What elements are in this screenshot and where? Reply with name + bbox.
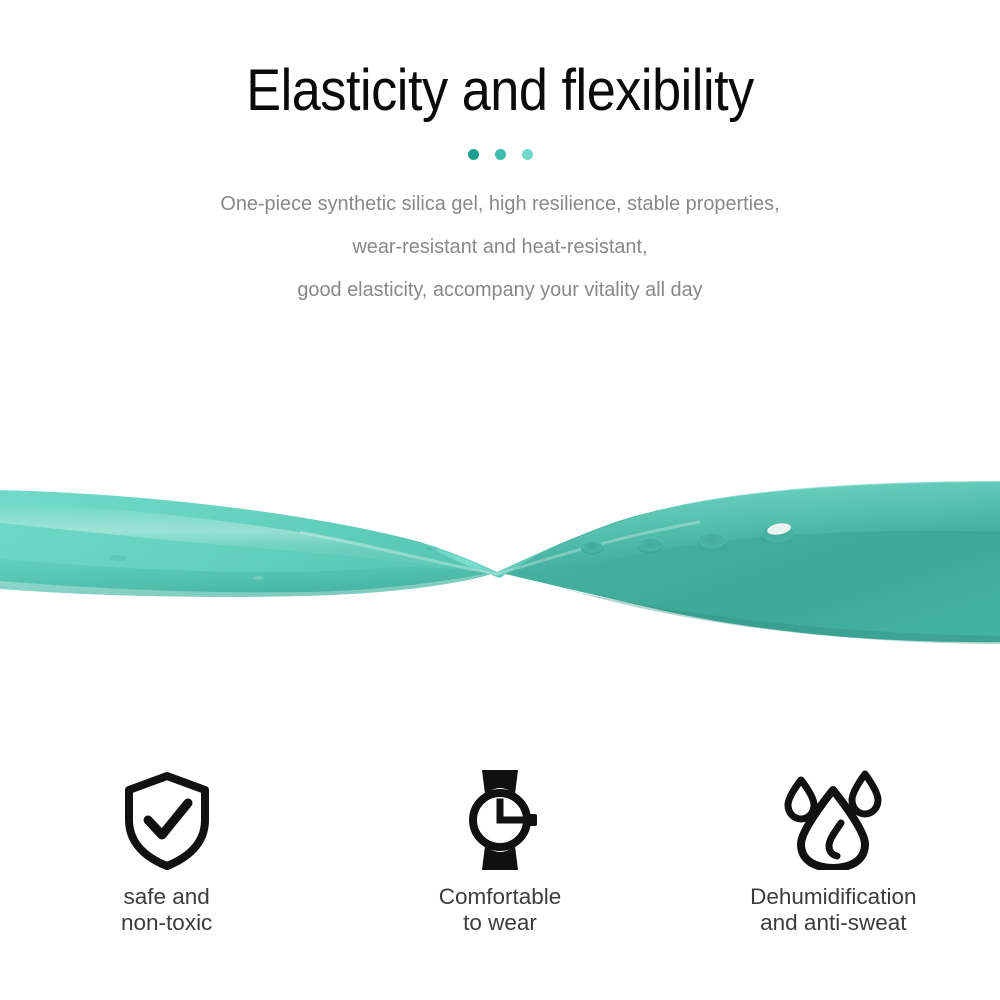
feature-caption: Comfortable to wear <box>439 884 562 936</box>
feature-safe-non-toxic: safe and non-toxic <box>0 768 333 936</box>
header-block: Elasticity and flexibility One-piece syn… <box>0 0 1000 311</box>
feature-caption: Dehumidification and anti-sweat <box>750 884 916 936</box>
twisted-band-illustration <box>0 382 1000 682</box>
subtitle-line-2: wear-resistant and heat-resistant, <box>15 225 985 268</box>
feature-caption-line-2: and anti-sweat <box>750 910 916 936</box>
subtitle-block: One-piece synthetic silica gel, high res… <box>15 182 985 311</box>
feature-caption-line-2: non-toxic <box>121 910 212 936</box>
dot-dark-icon <box>468 149 479 160</box>
feature-dehumidification: Dehumidification and anti-sweat <box>667 768 1000 936</box>
feature-icon-wrap <box>779 768 887 872</box>
feature-caption-line-1: safe and <box>121 884 212 910</box>
subtitle-line-1: One-piece synthetic silica gel, high res… <box>15 182 985 225</box>
feature-row: safe and non-toxic Comfortable to wear <box>0 768 1000 936</box>
water-drops-icon <box>779 770 887 870</box>
feature-comfortable-to-wear: Comfortable to wear <box>333 768 666 936</box>
decorative-dots <box>0 148 1000 160</box>
feature-caption-line-1: Dehumidification <box>750 884 916 910</box>
feature-icon-wrap <box>119 768 215 872</box>
dot-light-icon <box>522 149 533 160</box>
feature-caption-line-1: Comfortable <box>439 884 562 910</box>
subtitle-line-3: good elasticity, accompany your vitality… <box>15 268 985 311</box>
product-image <box>0 382 1000 682</box>
shield-check-icon <box>119 770 215 870</box>
dot-mid-icon <box>495 149 506 160</box>
feature-caption: safe and non-toxic <box>121 884 212 936</box>
wristwatch-icon <box>452 768 548 872</box>
feature-icon-wrap <box>452 768 548 872</box>
page-title: Elasticity and flexibility <box>50 0 950 120</box>
feature-caption-line-2: to wear <box>439 910 562 936</box>
